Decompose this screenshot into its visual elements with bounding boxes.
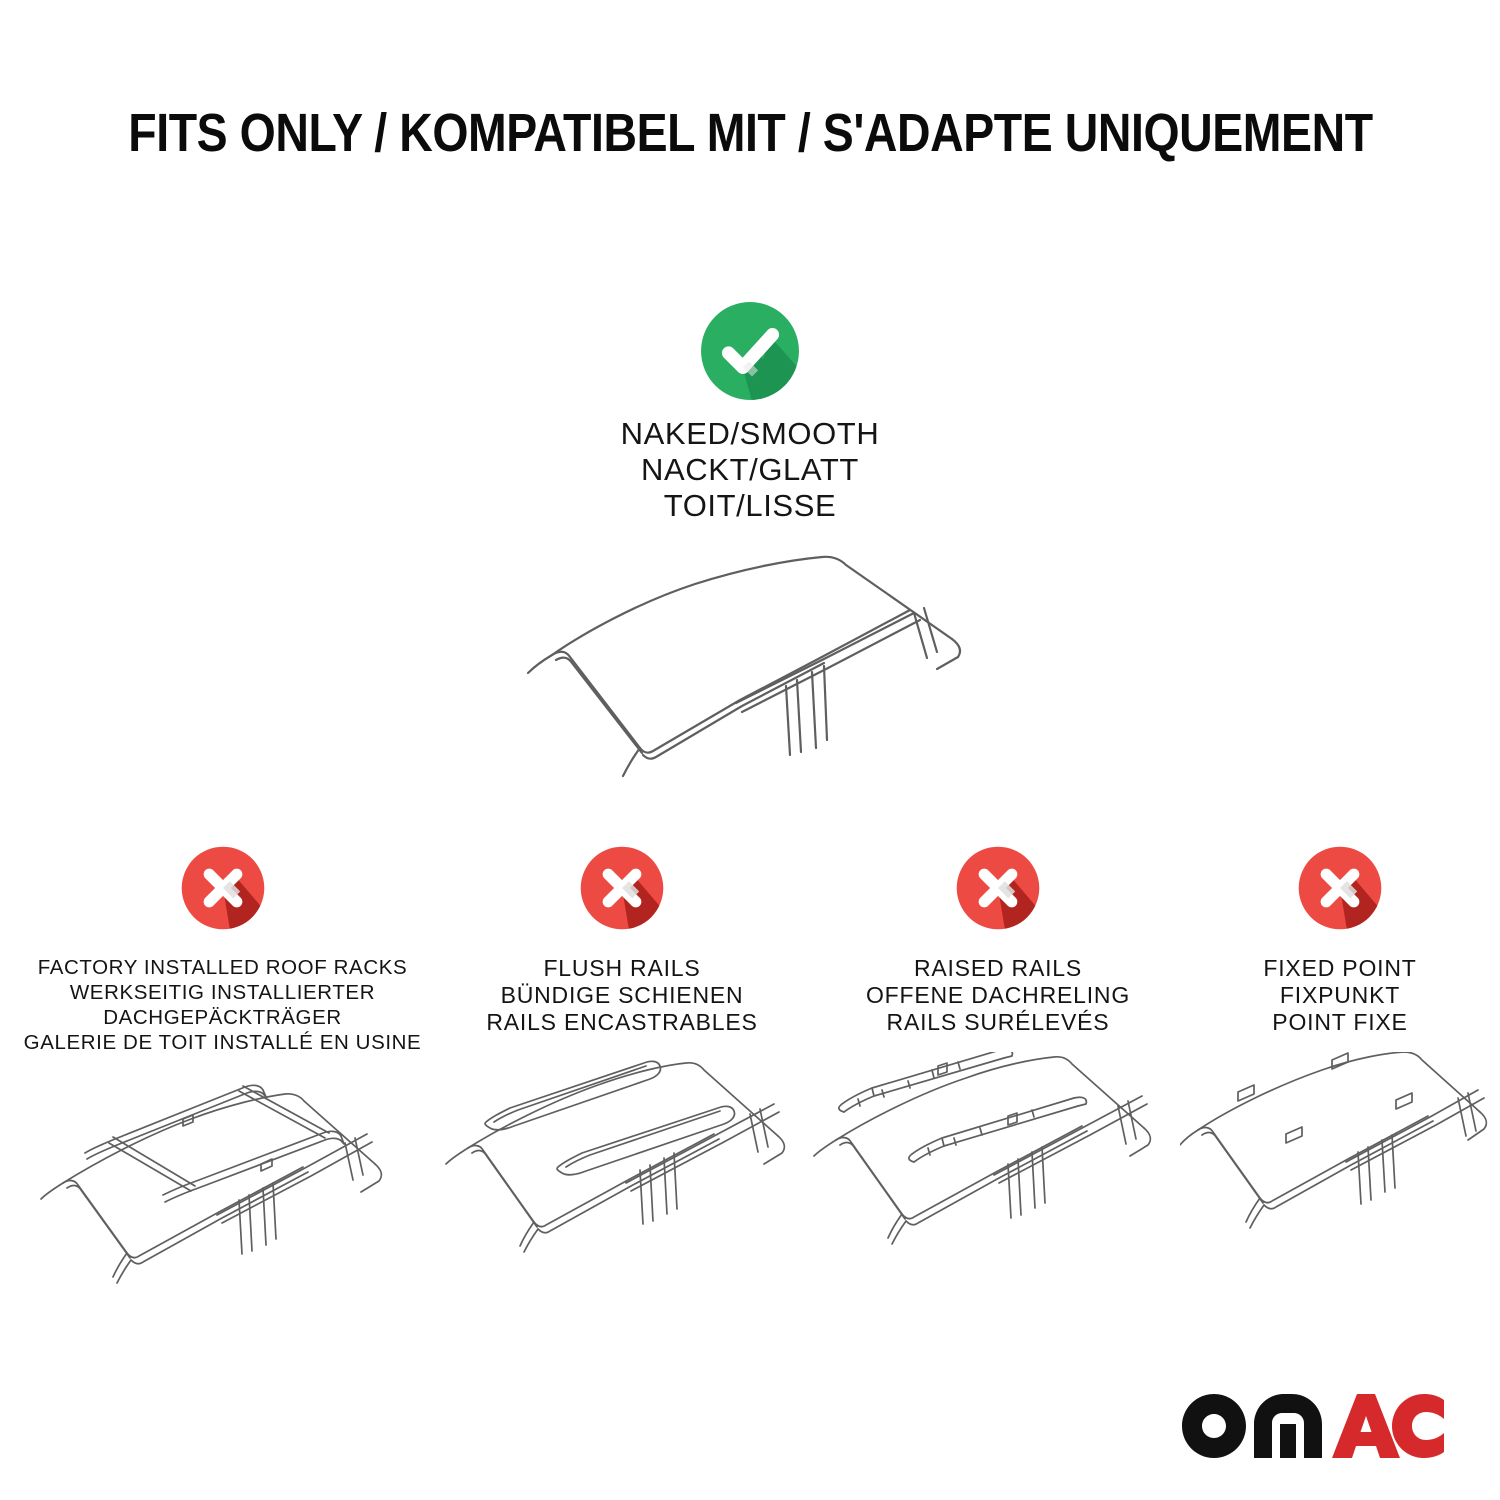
incompatible-section: FACTORY INSTALLED ROOF RACKS WERKSEITIG … [0,845,1500,1325]
page-title-text: FITS ONLY / KOMPATIBEL MIT / S'ADAPTE UN… [128,104,1372,162]
label-line-2: BÜNDIGE SCHIENEN [438,982,806,1009]
compatible-label-de: NACKT/GLATT [0,452,1500,488]
label-line-2: FIXPUNKT [1180,982,1500,1009]
compatible-label-fr: TOIT/LISSE [0,488,1500,524]
compatible-label-en: NAKED/SMOOTH [0,416,1500,452]
label-line-1: FLUSH RAILS [438,955,806,982]
incompatible-labels-factory-roof-racks: FACTORY INSTALLED ROOF RACKS WERKSEITIG … [0,955,445,1055]
incompatible-item-raised-rails: RAISED RAILS OFFENE DACHRELING RAILS SUR… [812,845,1184,1282]
incompatible-labels-raised-rails: RAISED RAILS OFFENE DACHRELING RAILS SUR… [812,955,1184,1036]
label-line-4: GALERIE DE TOIT INSTALLÉ EN USINE [0,1030,445,1055]
page-title: FITS ONLY / KOMPATIBEL MIT / S'ADAPTE UN… [0,104,1500,162]
label-line-2: WERKSEITIG INSTALLIERTER [0,980,445,1005]
label-line-3: DACHGEPÄCKTRÄGER [0,1005,445,1030]
cross-circle-icon [579,845,665,931]
car-roof-fixed-point-illustration [1180,1052,1500,1282]
compatible-labels: NAKED/SMOOTH NACKT/GLATT TOIT/LISSE [0,416,1500,524]
check-circle-icon [699,300,801,402]
cross-circle-icon [1297,845,1383,931]
car-roof-raised-rails-illustration [812,1052,1184,1282]
label-line-1: RAISED RAILS [812,955,1184,982]
label-line-1: FIXED POINT [1180,955,1500,982]
incompatible-item-factory-roof-racks: FACTORY INSTALLED ROOF RACKS WERKSEITIG … [0,845,445,1301]
label-line-3: RAILS SURÉLEVÉS [812,1009,1184,1036]
omac-logo [1182,1394,1444,1458]
compatible-section: NAKED/SMOOTH NACKT/GLATT TOIT/LISSE [0,300,1500,790]
cross-circle-icon [955,845,1041,931]
label-line-3: RAILS ENCASTRABLES [438,1009,806,1036]
label-line-3: POINT FIXE [1180,1009,1500,1036]
incompatible-item-flush-rails: FLUSH RAILS BÜNDIGE SCHIENEN RAILS ENCAS… [438,845,806,1282]
cross-circle-icon [180,845,266,931]
incompatible-labels-fixed-point: FIXED POINT FIXPUNKT POINT FIXE [1180,955,1500,1036]
car-roof-naked-smooth-illustration [0,540,1500,790]
label-line-1: FACTORY INSTALLED ROOF RACKS [0,955,445,980]
incompatible-item-fixed-point: FIXED POINT FIXPUNKT POINT FIXE [1180,845,1500,1282]
label-line-2: OFFENE DACHRELING [812,982,1184,1009]
incompatible-labels-flush-rails: FLUSH RAILS BÜNDIGE SCHIENEN RAILS ENCAS… [438,955,806,1036]
car-roof-factory-racks-illustration [0,1071,445,1301]
car-roof-flush-rails-illustration [438,1052,806,1282]
